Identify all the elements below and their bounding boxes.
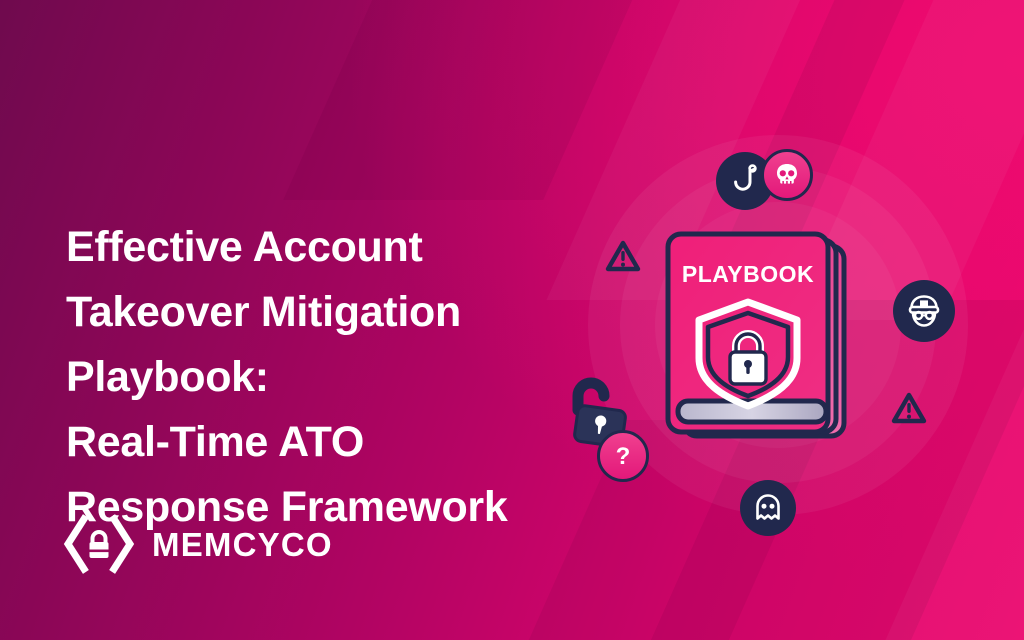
skull-icon [761, 149, 813, 201]
playbook-book: PLAYBOOK [662, 230, 852, 452]
brand-logo[interactable]: MEMCYCO [64, 516, 333, 572]
question-mark-icon: ? [597, 430, 649, 482]
warning-triangle-icon [892, 392, 926, 424]
svg-text:?: ? [616, 443, 631, 470]
warning-triangle-icon [606, 240, 640, 272]
angle-brackets-lock-icon [64, 516, 134, 572]
book-cover-title: PLAYBOOK [682, 261, 814, 287]
ato-playbook-illustration: PLAYBOOK [540, 130, 1020, 610]
hero-banner: Effective Account Takeover Mitigation Pl… [0, 0, 1024, 640]
brand-wordmark: MEMCYCO [152, 528, 333, 561]
hacker-masked-face-icon [893, 280, 955, 342]
malware-ghost-icon [740, 480, 796, 536]
